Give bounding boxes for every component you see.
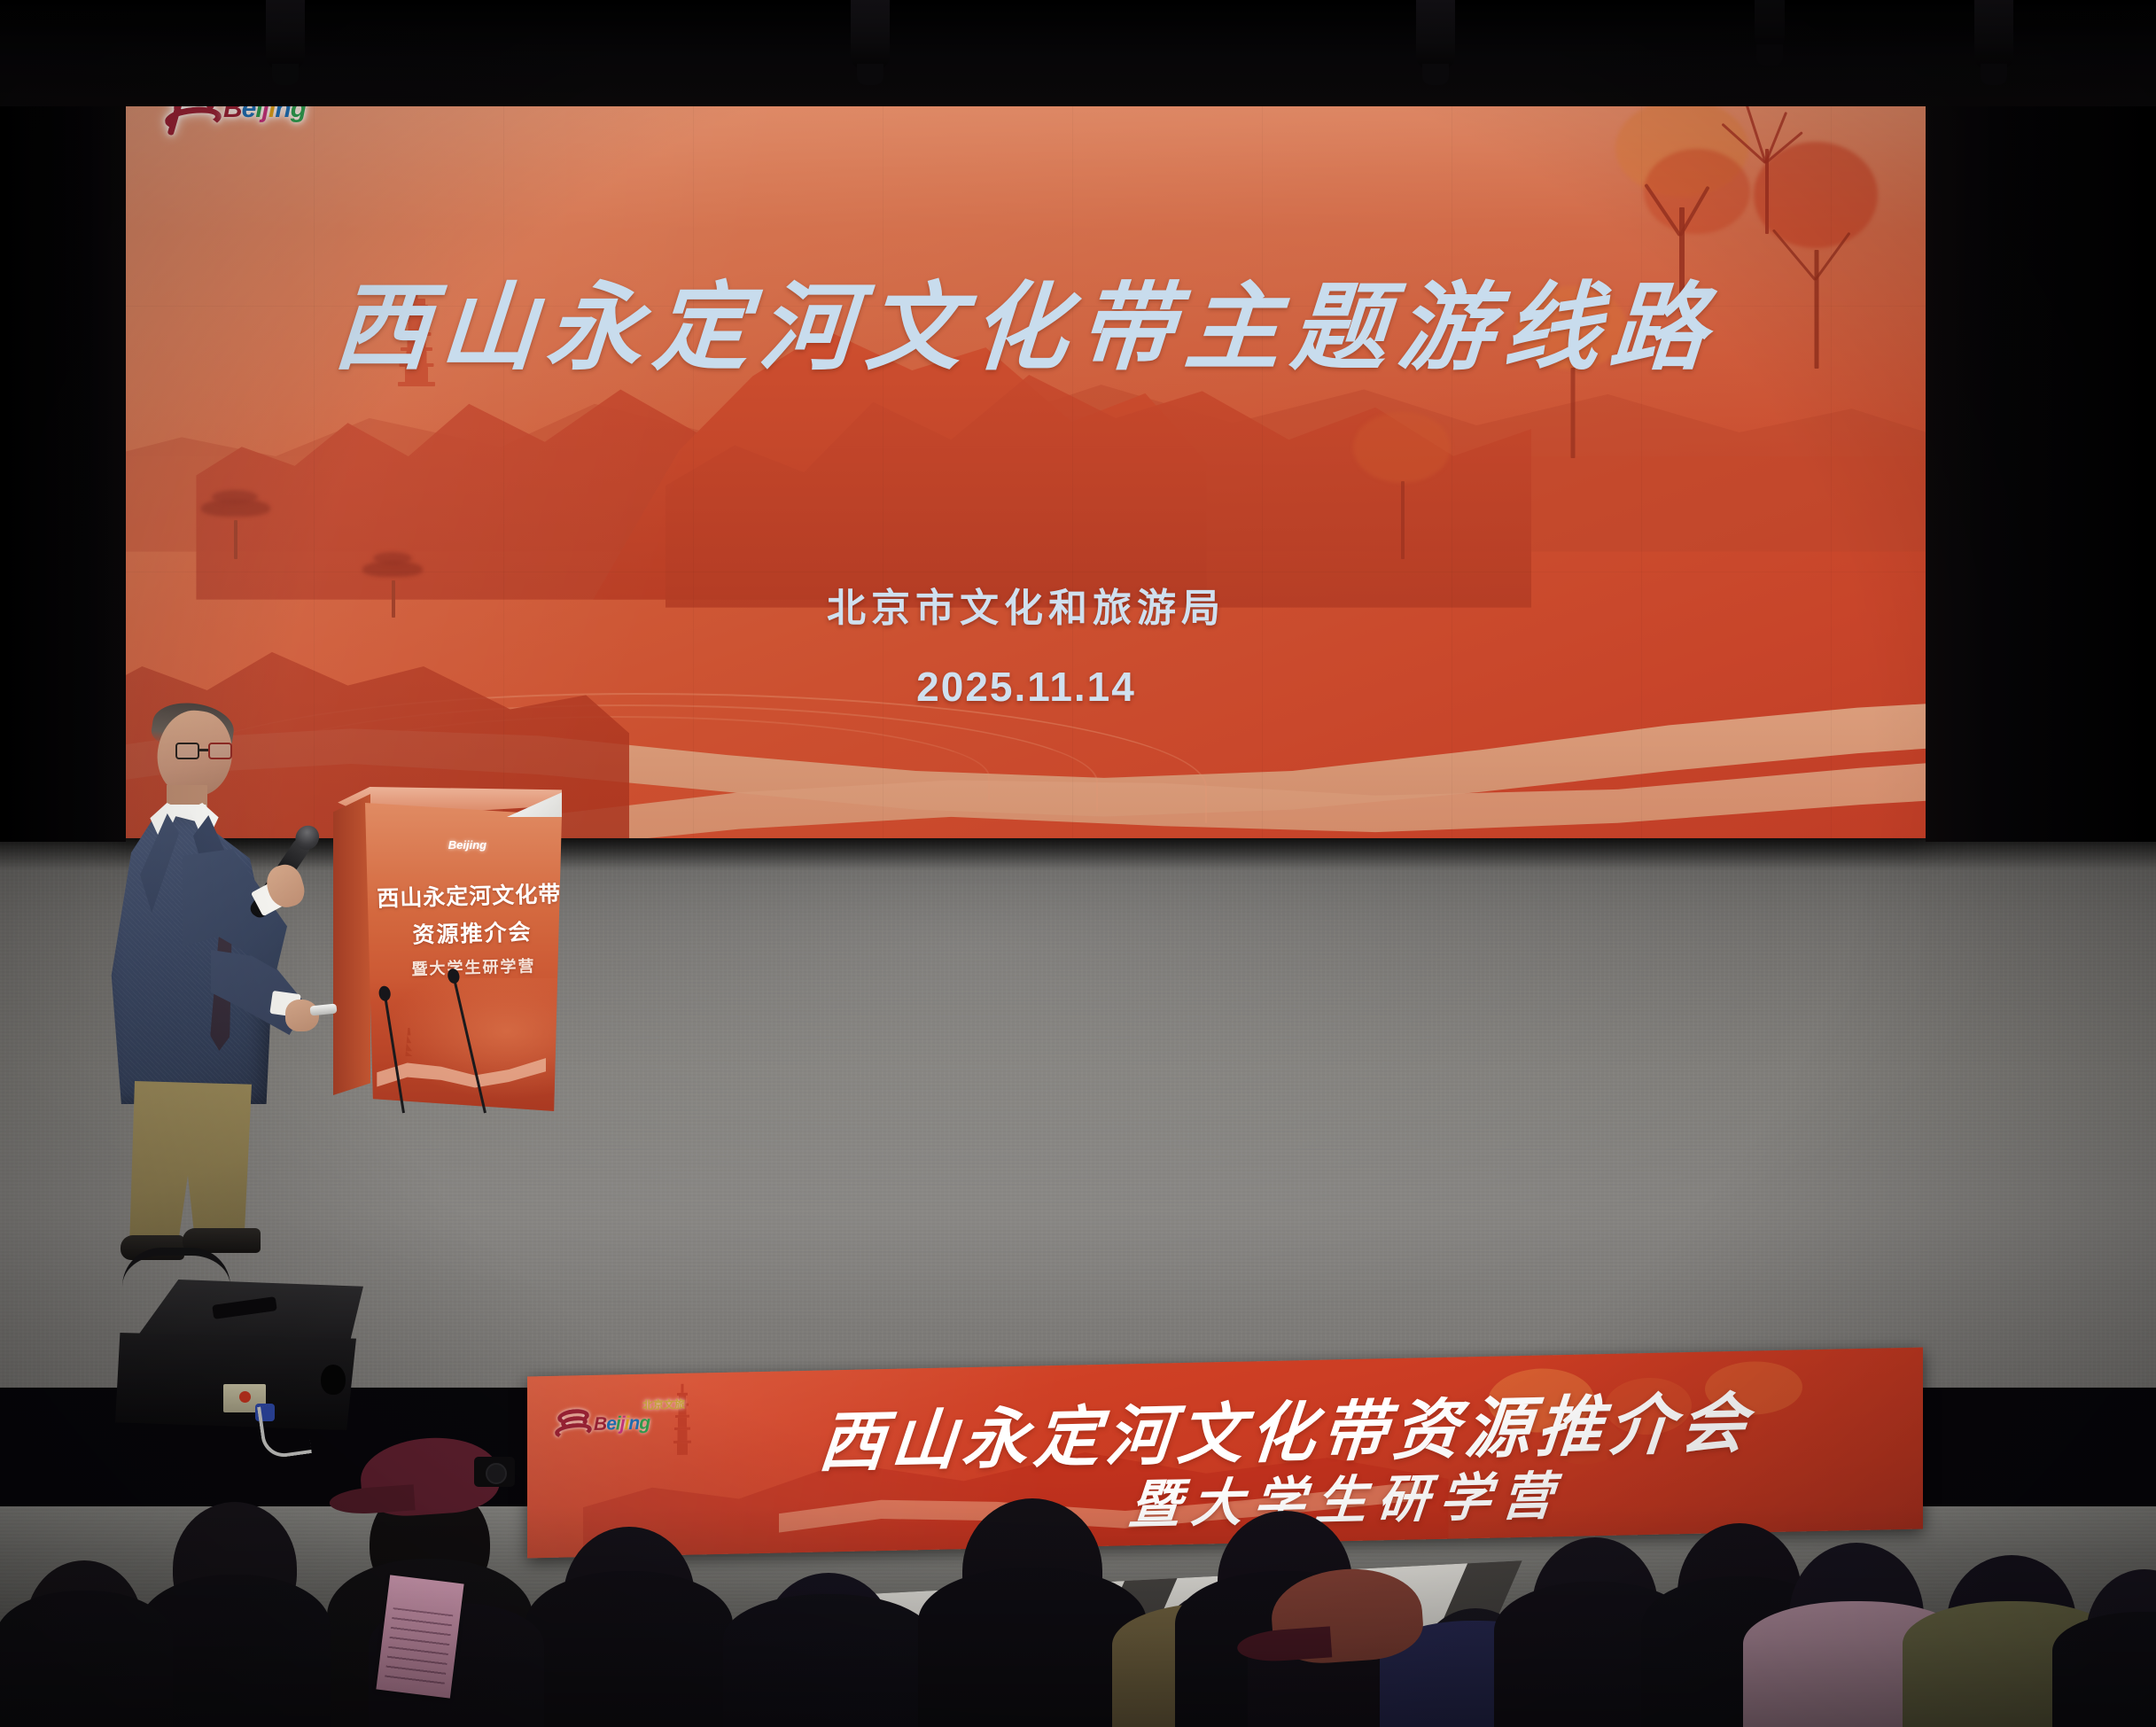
podium-artwork (365, 978, 562, 1111)
podium-title-line2: 资源推介会 (384, 914, 562, 950)
screen-date: 2025.11.14 (124, 663, 1928, 711)
rig-light-1 (266, 0, 305, 69)
eyeglasses-icon (175, 743, 232, 759)
pine-tree-left (196, 488, 276, 559)
camera-icon (474, 1457, 515, 1487)
audience-member-3 (532, 1461, 727, 1727)
rig-light-4 (1974, 0, 2013, 69)
led-backdrop-screen: Beijing 北京文旅 西山永定河文化带主题游线路 北京市文化和旅游局 202… (124, 43, 1928, 838)
audience-silhouettes (0, 1382, 2156, 1727)
autumn-tree-4 (1346, 408, 1459, 559)
rig-light-3 (1416, 0, 1455, 69)
stage-photo-scene: Beijing 北京文旅 西山永定河文化带主题游线路 北京市文化和旅游局 202… (0, 0, 2156, 1727)
presenter-trousers (124, 1081, 257, 1249)
pink-handout-sheet (376, 1575, 463, 1698)
rig-light-5 (1755, 0, 1785, 50)
podium-title-line1: 西山永定河文化带 (376, 876, 562, 913)
stage-floor-shadow (0, 838, 2156, 870)
ceiling (0, 0, 2156, 106)
screen-organizer: 北京市文化和旅游局 (124, 576, 1928, 633)
presenter-figure (97, 700, 319, 1267)
audience-member-6 (922, 1452, 1143, 1727)
rig-light-2 (851, 0, 890, 69)
audience-member-5 (727, 1488, 930, 1727)
screen-headline: 西山永定河文化带主题游线路 (124, 251, 1928, 389)
audience-member-2 (0, 1488, 168, 1727)
stage-wing-right (1926, 0, 2156, 842)
podium-title-line3: 暨大学生研学营 (389, 953, 558, 981)
podium: Beijing 西山永定河文化带 资源推介会 暨大学生研学营 (333, 778, 562, 1113)
podium-side-panel (333, 794, 370, 1095)
audience-member-11 (2056, 1505, 2156, 1727)
podium-logo: Beijing (426, 833, 508, 856)
